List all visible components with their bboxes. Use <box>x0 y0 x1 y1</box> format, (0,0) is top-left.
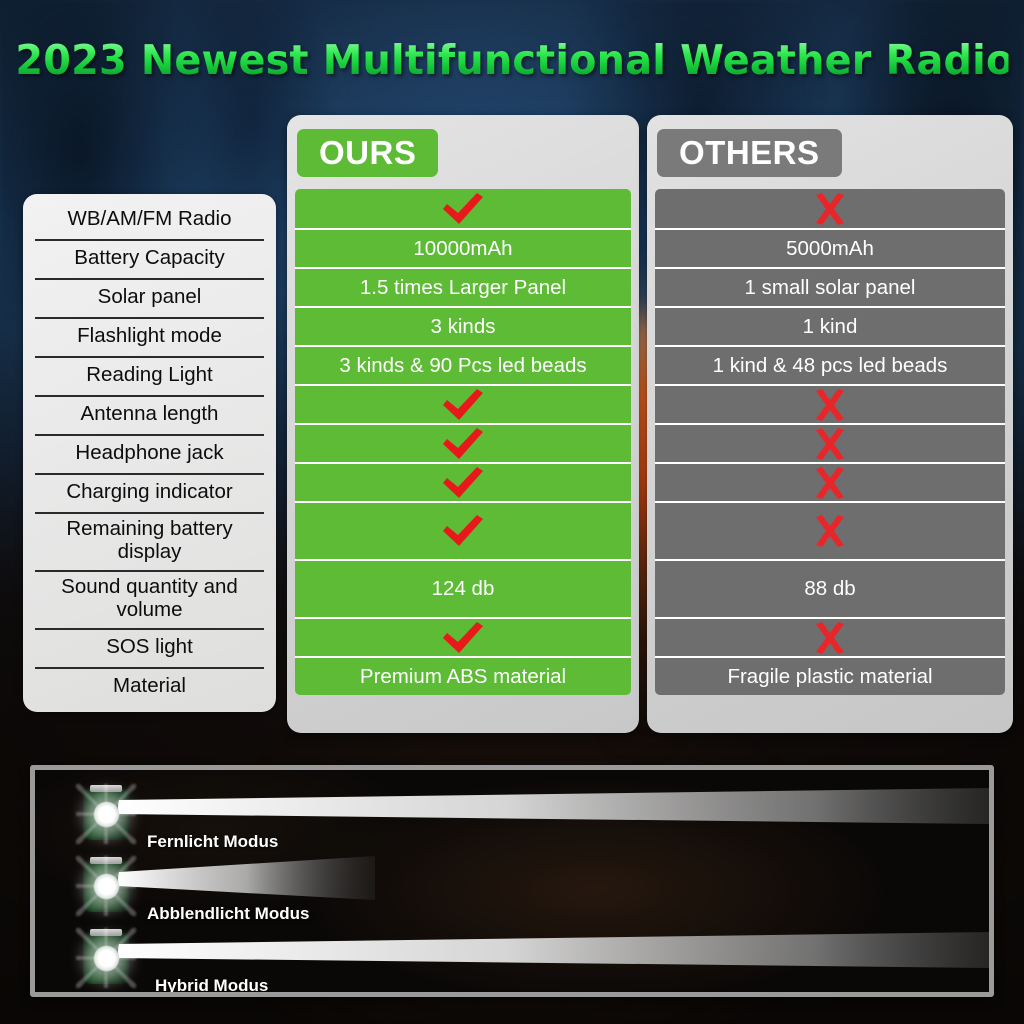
others-value-row: 88 db <box>655 559 1005 617</box>
flashlight-led <box>93 945 120 972</box>
ours-value-text: 10000mAh <box>413 237 512 261</box>
ours-value-row: 3 kinds & 90 Pcs led beads <box>295 345 631 384</box>
page-title: 2023 Newest Multifunctional Weather Radi… <box>15 36 1008 84</box>
others-value-row: Fragile plastic material <box>655 656 1005 695</box>
ours-header-badge: OURS <box>297 129 438 177</box>
cross-icon <box>813 389 847 421</box>
others-value-text: 88 db <box>804 577 855 601</box>
feature-label-row: Remaining battery display <box>23 512 276 570</box>
others-value-row: 5000mAh <box>655 228 1005 267</box>
ours-value-row <box>295 617 631 656</box>
feature-label-row: SOS light <box>23 628 276 667</box>
feature-label-text: SOS light <box>106 636 193 659</box>
others-value-text: 1 kind & 48 pcs led beads <box>713 354 948 378</box>
flashlight-led <box>93 873 120 900</box>
cross-icon <box>813 515 847 547</box>
feature-label-text: Solar panel <box>98 286 202 309</box>
ours-panel: OURS 10000mAh1.5 times Larger Panel3 kin… <box>287 115 639 733</box>
others-value-row: 1 kind <box>655 306 1005 345</box>
check-icon <box>441 192 485 226</box>
feature-label-row: Material <box>23 667 276 706</box>
ours-value-rows: 10000mAh1.5 times Larger Panel3 kinds3 k… <box>295 189 631 695</box>
cross-icon <box>813 622 847 654</box>
check-icon <box>441 514 485 548</box>
ours-value-row <box>295 423 631 462</box>
ours-value-row <box>295 501 631 559</box>
ours-value-row <box>295 462 631 501</box>
others-panel: OTHERS 5000mAh1 small solar panel1 kind1… <box>647 115 1013 733</box>
others-value-row <box>655 384 1005 423</box>
ours-value-text: 1.5 times Larger Panel <box>360 276 566 300</box>
others-value-row: 1 kind & 48 pcs led beads <box>655 345 1005 384</box>
others-value-text: 5000mAh <box>786 237 874 261</box>
ours-value-row: Premium ABS material <box>295 656 631 695</box>
flashlight-mode-label: Abblendlicht Modus <box>147 904 309 924</box>
feature-label-row: Charging indicator <box>23 473 276 512</box>
feature-label-row: Solar panel <box>23 278 276 317</box>
light-beam-full-long <box>117 928 989 974</box>
others-value-row <box>655 423 1005 462</box>
feature-label-row: Flashlight mode <box>23 317 276 356</box>
others-value-text: 1 small solar panel <box>745 276 916 300</box>
others-value-rows: 5000mAh1 small solar panel1 kind1 kind &… <box>655 189 1005 695</box>
check-icon <box>441 466 485 500</box>
ours-value-text: 3 kinds <box>431 315 496 339</box>
flashlight-mode-item: Hybrid Modus <box>35 928 989 997</box>
feature-label-row: Reading Light <box>23 356 276 395</box>
flashlight-mode-label: Hybrid Modus <box>155 976 268 996</box>
feature-label-text: Material <box>113 675 186 698</box>
feature-label-column: WB/AM/FM RadioBattery CapacitySolar pane… <box>23 194 276 712</box>
others-value-row: 1 small solar panel <box>655 267 1005 306</box>
ours-value-row: 3 kinds <box>295 306 631 345</box>
feature-label-text: Reading Light <box>86 364 213 387</box>
cross-icon <box>813 193 847 225</box>
feature-label-row: Battery Capacity <box>23 239 276 278</box>
ours-value-row <box>295 189 631 228</box>
ours-value-row: 124 db <box>295 559 631 617</box>
feature-label-row: Antenna length <box>23 395 276 434</box>
feature-label-text: Remaining battery display <box>33 518 266 564</box>
feature-label-text: Charging indicator <box>66 481 232 504</box>
others-header-badge: OTHERS <box>657 129 842 177</box>
flashlight-mode-item: Fernlicht Modus <box>35 784 989 858</box>
feature-label-text: Sound quantity and volume <box>33 576 266 622</box>
others-value-text: 1 kind <box>803 315 858 339</box>
ours-value-row: 10000mAh <box>295 228 631 267</box>
others-value-row <box>655 189 1005 228</box>
flashlight-modes-panel: Fernlicht ModusAbblendlicht ModusHybrid … <box>30 765 994 997</box>
feature-label-row: WB/AM/FM Radio <box>23 200 276 239</box>
flashlight-modes-inner: Fernlicht ModusAbblendlicht ModusHybrid … <box>35 770 989 992</box>
flashlight-led <box>93 801 120 828</box>
ours-value-row <box>295 384 631 423</box>
others-value-row <box>655 501 1005 559</box>
others-value-row <box>655 462 1005 501</box>
product-comparison-infographic: 2023 Newest Multifunctional Weather Radi… <box>0 0 1024 1024</box>
feature-label-text: WB/AM/FM Radio <box>67 208 231 231</box>
feature-label-row: Headphone jack <box>23 434 276 473</box>
ours-value-text: Premium ABS material <box>360 665 566 689</box>
flashlight-mode-label: Fernlicht Modus <box>147 832 278 852</box>
cross-icon <box>813 428 847 460</box>
check-icon <box>441 427 485 461</box>
others-value-text: Fragile plastic material <box>727 665 932 689</box>
flashlight-mode-item: Abblendlicht Modus <box>35 856 989 930</box>
ours-value-text: 3 kinds & 90 Pcs led beads <box>339 354 586 378</box>
cross-icon <box>813 467 847 499</box>
check-icon <box>441 621 485 655</box>
ours-value-text: 124 db <box>432 577 495 601</box>
light-beam-short-wide <box>117 856 377 902</box>
feature-label-row: Sound quantity and volume <box>23 570 276 628</box>
ours-value-row: 1.5 times Larger Panel <box>295 267 631 306</box>
feature-label-text: Headphone jack <box>75 442 223 465</box>
feature-label-text: Battery Capacity <box>74 247 224 270</box>
feature-label-text: Antenna length <box>81 403 219 426</box>
light-beam-full-long <box>117 784 989 830</box>
feature-label-text: Flashlight mode <box>77 325 222 348</box>
others-value-row <box>655 617 1005 656</box>
check-icon <box>441 388 485 422</box>
